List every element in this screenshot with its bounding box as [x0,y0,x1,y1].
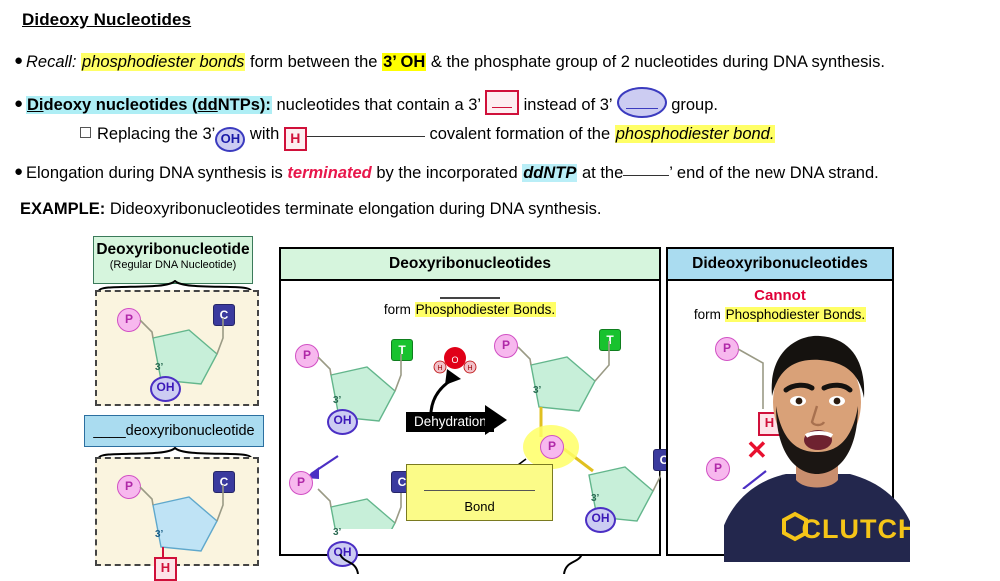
recall-lead: Recall: [26,53,76,71]
example-label: EXAMPLE: [20,200,105,218]
middle-panel: Deoxyribonucleotides form Phosphodiester… [279,247,661,556]
bond-label-box: Bond [406,464,553,521]
prime-3-label: 3’ [333,395,341,406]
elong-lead: Elongation during DNA synthesis is [26,164,283,182]
rep-blank [307,136,425,137]
middle-panel-header: Deoxyribonucleotides [281,249,659,281]
def-mid: nucleotides that contain a 3’ [276,96,480,114]
def-dd: dd [198,96,218,114]
left-header-subtitle: (Regular DNA Nucleotide) [94,259,252,271]
prime-3-label: 3’ [533,385,541,396]
slide-root: Dideoxy Nucleotides ●Recall: phosphodies… [0,0,1000,562]
right-caption-pre: form [694,307,721,322]
svg-text:CLUTCH: CLUTCH [802,514,910,544]
cannot-label: Cannot [668,287,892,304]
bullet-dot-icon: ● [14,93,26,115]
bullet-definition: ●Dideoxy nucleotides (ddNTPs): nucleotid… [14,87,718,118]
example-text: Dideoxyribonucleotides terminate elongat… [110,200,602,218]
left-header-title: Deoxyribonucleotide [94,241,252,259]
rep-with: with [250,125,279,143]
elong-mid: by the incorporated [376,164,517,182]
rep-term: phosphodiester bond. [615,125,776,143]
left-header2-title: ____deoxyribonucleotide [93,423,254,439]
bullet-elongation: ●Elongation during DNA synthesis is term… [14,161,879,184]
left-mol2-container: P C 3’ H [95,457,259,566]
figure-area: Deoxyribonucleotide (Regular DNA Nucleot… [0,232,1000,562]
bond-blank-line [424,490,534,491]
def-ntps: NTPs): [218,96,271,114]
elong-terminated: terminated [287,164,371,182]
square-bullet-icon [80,127,91,138]
phosphodiester-phosphate-icon: P [540,435,564,459]
webcam-overlay: CLUTCH [724,314,910,562]
svg-text:O: O [451,355,458,365]
bullet-recall: ●Recall: phosphodiester bonds form betwe… [14,50,885,73]
recall-mid: form between the [250,53,378,71]
rep-mid: covalent formation of the [429,125,610,143]
page-title: Dideoxy Nucleotides [22,10,191,30]
middle-caption-blank [281,287,659,302]
oh-group-icon: OH [150,376,181,402]
bullet-dot-icon: ● [14,50,26,72]
prime-3-label: 3’ [155,529,163,540]
rep-lead: Replacing the 3’ [97,125,215,143]
oh-group-icon: OH [327,409,358,435]
oh-group-icon: OH [585,507,616,533]
phosphate-icon: P [289,471,313,495]
def-deoxy: deoxy nucleotides ( [44,96,198,114]
prime-3-label: 3’ [591,493,599,504]
elong-tail: ’ end of the new DNA strand. [669,164,878,182]
bottom-braces-icon [300,554,640,574]
sugar-ring-icon [97,459,257,564]
h-group-icon: H [154,557,177,581]
elong-blank [623,175,669,176]
middle-caption-pre: form [384,302,411,317]
h-red-box-label: H [284,127,307,151]
left-header-dideoxyribonucleotide: ____deoxyribonucleotide [84,415,264,447]
red-blank-box [485,90,519,115]
subbullet-replacing: Replacing the 3’OH with H covalent forma… [80,123,775,152]
def-tail: group. [671,96,718,114]
elong-mid2: at the [582,164,623,182]
def-mid2: instead of 3’ [524,96,612,114]
right-panel-header: Dideoxyribonucleotides [668,249,892,281]
left-header-deoxyribonucleotide: Deoxyribonucleotide (Regular DNA Nucleot… [93,236,253,284]
def-di: Di [27,96,44,114]
recall-tail: & the phosphate group of 2 nucleotides d… [431,53,885,71]
recall-term: phosphodiester bonds [81,53,245,71]
left-mol1-container: P C 3’ OH [95,290,259,406]
example-line: EXAMPLE: Dideoxyribonucleotides terminat… [20,198,601,220]
instructor-avatar: CLUTCH [724,314,910,562]
elong-ddntp: ddNTP [522,164,577,182]
bullet-dot-icon: ● [14,161,26,183]
oh-circle-label: OH [215,127,245,152]
blue-blank-oval [617,87,667,118]
bond-label: Bond [407,499,552,514]
recall-3oh: 3’ OH [382,53,426,71]
prime-3-label: 3’ [333,527,341,538]
prime-3-label: 3’ [155,362,163,373]
middle-caption: form Phosphodiester Bonds. [281,302,659,317]
middle-caption-highlight: Phosphodiester Bonds. [415,302,557,317]
